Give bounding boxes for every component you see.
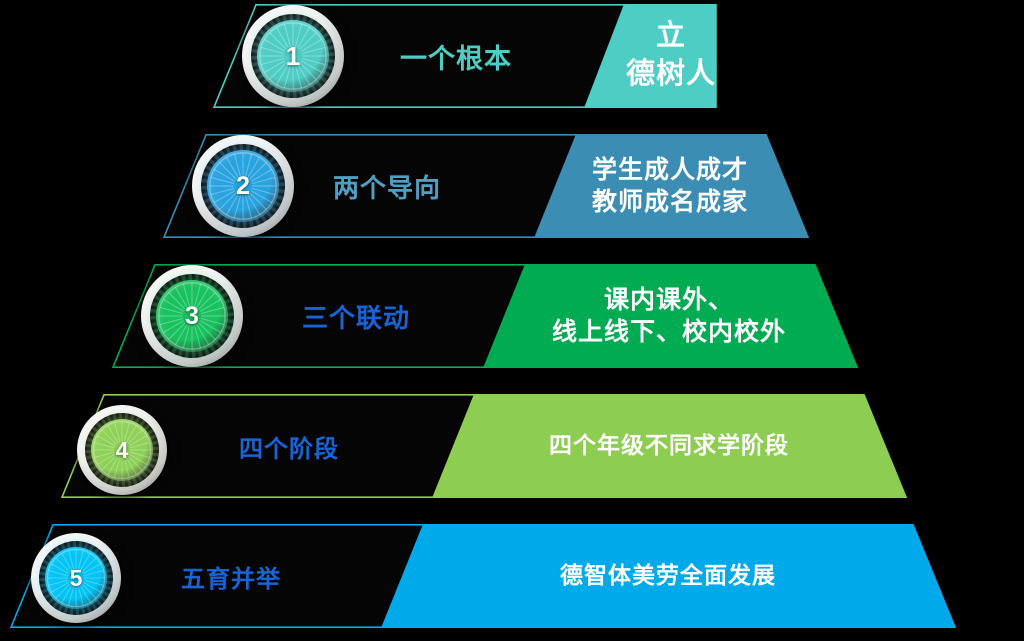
tier-badge-3[interactable]: 3	[141, 265, 243, 367]
pyramid-tier-1[interactable]: 1一个根本立 德树人	[0, 4, 1024, 108]
tier-right-label-2: 学生成人成才 教师成名成家	[500, 134, 840, 238]
pyramid-tier-4[interactable]: 4四个阶段四个年级不同求学阶段	[0, 394, 1024, 498]
badge-number: 4	[116, 439, 129, 462]
badge-number: 1	[286, 43, 300, 69]
tier-badge-2[interactable]: 2	[192, 135, 294, 237]
badge-number: 5	[70, 567, 83, 590]
tier-left-label-4: 四个阶段	[239, 394, 339, 498]
pyramid-tier-2[interactable]: 2两个导向学生成人成才 教师成名成家	[0, 134, 1024, 238]
tier-left-label-1: 一个根本	[400, 4, 512, 108]
tier-left-label-3: 三个联动	[302, 264, 410, 368]
tier-left-label-2: 两个导向	[333, 134, 441, 238]
badge-number: 3	[185, 304, 199, 329]
tier-badge-5[interactable]: 5	[31, 533, 121, 623]
pyramid-tier-3[interactable]: 3三个联动课内课外、 线上线下、校内校外	[0, 264, 1024, 368]
badge-core-wheel: 2	[207, 150, 279, 222]
badge-core-wheel: 5	[45, 547, 107, 609]
tier-left-label-5: 五育并举	[181, 524, 281, 628]
pyramid-tier-5[interactable]: 5五育并举德智体美劳全面发展	[0, 524, 1024, 628]
badge-number: 2	[236, 174, 250, 199]
badge-core-wheel: 1	[257, 20, 329, 92]
tier-right-label-4: 四个年级不同求学阶段	[499, 394, 839, 498]
badge-core-wheel: 3	[156, 280, 228, 352]
tier-right-label-1: 立 德树人	[501, 4, 841, 108]
pyramid-diagram: 1一个根本立 德树人2两个导向学生成人成才 教师成名成家3三个联动课内课外、 线…	[0, 0, 1024, 641]
badge-core-wheel: 4	[91, 419, 153, 481]
tier-badge-1[interactable]: 1	[242, 5, 344, 107]
tier-badge-4[interactable]: 4	[77, 405, 167, 495]
tier-right-label-3: 课内课外、 线上线下、校内校外	[499, 264, 839, 368]
tier-right-label-5: 德智体美劳全面发展	[498, 524, 838, 628]
